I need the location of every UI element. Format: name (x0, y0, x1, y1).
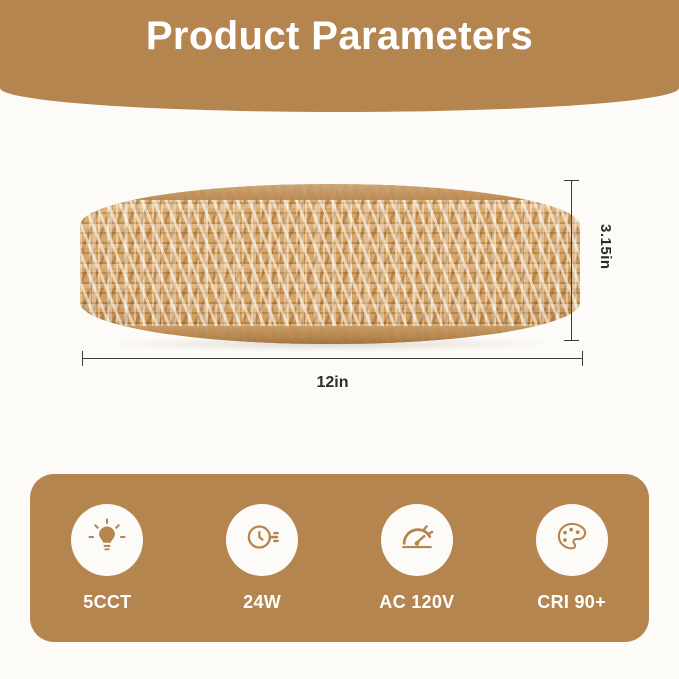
lamp-body (80, 184, 580, 344)
spec-label-wattage: 24W (243, 592, 281, 613)
woven-openings (80, 184, 580, 344)
spec-label-cct: 5CCT (83, 592, 131, 613)
spec-icon-circle (536, 504, 608, 576)
product-image-area: 3.15in 12in (60, 150, 620, 420)
page-title: Product Parameters (0, 14, 679, 59)
height-dimension-cap-bottom (564, 340, 579, 341)
spec-icon-circle (381, 504, 453, 576)
spec-item-wattage: 24W (196, 504, 328, 613)
product-parameters-page: Product Parameters 3.15in 12in (0, 0, 679, 679)
product-lamp-image (80, 184, 580, 344)
spec-label-voltage: AC 120V (379, 592, 454, 613)
spec-item-cct: 5CCT (41, 504, 173, 613)
spec-icon-circle (71, 504, 143, 576)
lightbulb-icon (86, 516, 128, 563)
height-dimension-cap-top (564, 180, 579, 181)
width-dimension-cap-right (582, 351, 583, 366)
height-dimension-label: 3.15in (597, 224, 614, 270)
spec-icon-circle (226, 504, 298, 576)
width-dimension-cap-left (82, 351, 83, 366)
lamp-drop-shadow (100, 336, 560, 352)
spec-label-cri: CRI 90+ (537, 592, 606, 613)
height-dimension-line (571, 180, 572, 340)
gauge-meter-icon (395, 515, 439, 564)
width-dimension-line (82, 358, 582, 359)
power-plug-icon (241, 516, 283, 563)
specs-panel: 5CCT 24W (30, 474, 649, 642)
spec-item-cri: CRI 90+ (506, 504, 638, 613)
color-palette-icon (551, 516, 593, 563)
width-dimension-label: 12in (60, 374, 605, 392)
spec-item-voltage: AC 120V (351, 504, 483, 613)
